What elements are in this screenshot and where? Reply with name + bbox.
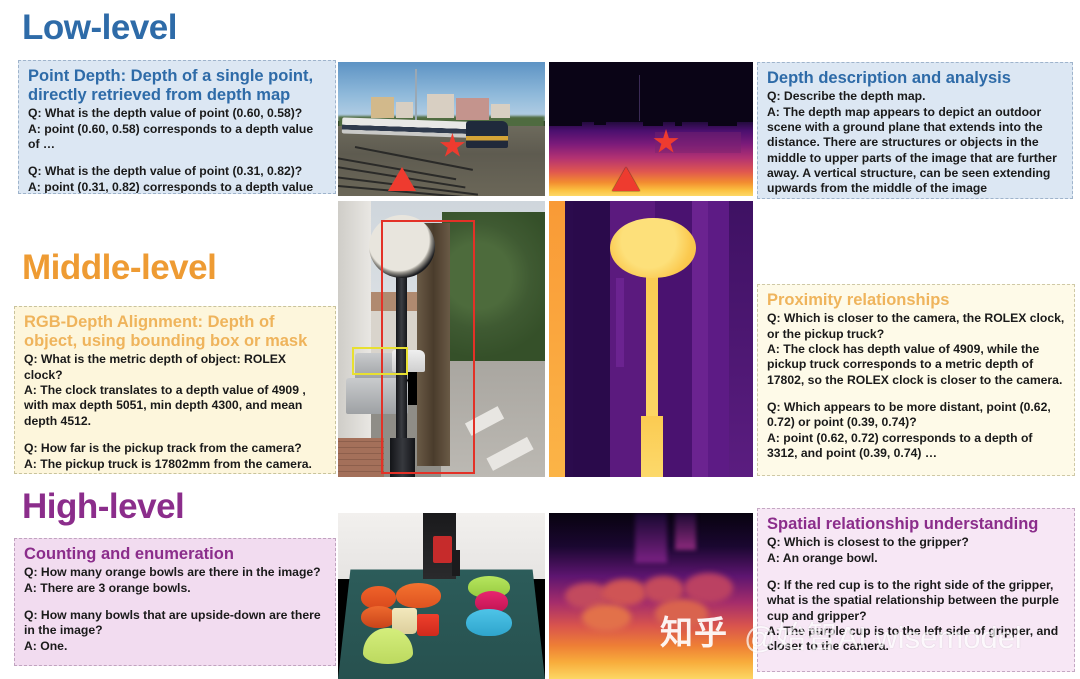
bowl-orange: [361, 606, 396, 628]
image-bowls-depth: [549, 513, 753, 679]
card-counting-title: Counting and enumeration: [24, 545, 327, 564]
card-proximity-title: Proximity relationships: [767, 291, 1066, 310]
card-spatial-q2: Q: If the red cup is to the right side o…: [767, 578, 1066, 624]
card-rgb-depth-alignment-a1: A: The clock translates to a depth value…: [24, 383, 327, 429]
card-proximity-q1: Q: Which is closer to the camera, the RO…: [767, 311, 1066, 342]
card-depth-description-q1: Q: Describe the depth map.: [767, 89, 1064, 104]
card-proximity-a2: A: point (0.62, 0.72) corresponds to a d…: [767, 431, 1066, 462]
slide-canvas: Low-level Middle-level High-level Point …: [0, 0, 1080, 679]
image-train-depth: [549, 62, 753, 196]
card-counting-a1: A: There are 3 orange bowls.: [24, 581, 327, 596]
section-heading-middle-level: Middle-level: [22, 248, 216, 288]
card-point-depth-a1: A: point (0.60, 0.58) corresponds to a d…: [28, 122, 327, 153]
image-clock-rgb: [338, 201, 545, 477]
card-point-depth-a2: A: point (0.31, 0.82) corresponds to a d…: [28, 180, 327, 194]
card-proximity-a1: A: The clock has depth value of 4909, wh…: [767, 342, 1066, 388]
image-bowls-rgb: [338, 513, 545, 679]
cup-red: [417, 614, 440, 636]
card-point-depth-q1: Q: What is the depth value of point (0.6…: [28, 106, 327, 121]
card-counting-q1: Q: How many orange bowls are there in th…: [24, 565, 327, 580]
card-rgb-depth-alignment-q1: Q: What is the metric depth of object: R…: [24, 352, 327, 383]
card-counting-enumeration: Counting and enumeration Q: How many ora…: [14, 538, 336, 666]
card-depth-description-a1: A: The depth map appears to depict an ou…: [767, 105, 1064, 197]
card-spatial-a1: A: An orange bowl.: [767, 551, 1066, 566]
card-rgb-depth-alignment-q2: Q: How far is the pickup track from the …: [24, 441, 327, 456]
card-proximity-q2: Q: Which appears to be more distant, poi…: [767, 400, 1066, 431]
image-clock-depth: [549, 201, 753, 477]
card-proximity-relationships: Proximity relationships Q: Which is clos…: [757, 284, 1075, 476]
bowl-blue: [466, 609, 512, 636]
card-spatial-relationship: Spatial relationship understanding Q: Wh…: [757, 508, 1075, 672]
card-spatial-q1: Q: Which is closest to the gripper?: [767, 535, 1066, 550]
image-train-rgb: [338, 62, 545, 196]
marker-triangle-red: [388, 167, 416, 191]
card-rgb-depth-alignment: RGB-Depth Alignment: Depth of object, us…: [14, 306, 336, 474]
card-point-depth-title: Point Depth: Depth of a single point, di…: [28, 67, 327, 105]
card-counting-a2: A: One.: [24, 639, 327, 654]
card-spatial-title: Spatial relationship understanding: [767, 515, 1066, 534]
card-point-depth: Point Depth: Depth of a single point, di…: [18, 60, 336, 194]
marker-triangle-red: [612, 167, 640, 191]
bowl-orange: [396, 583, 442, 608]
card-rgb-depth-alignment-a2: A: The pickup truck is 17802mm from the …: [24, 457, 327, 472]
card-rgb-depth-alignment-title: RGB-Depth Alignment: Depth of object, us…: [24, 313, 327, 351]
card-depth-description: Depth description and analysis Q: Descri…: [757, 62, 1073, 199]
section-heading-high-level: High-level: [22, 487, 184, 527]
bbox-pickup-truck: [352, 347, 408, 375]
card-spatial-a2: A: The purple cup is to the left side of…: [767, 624, 1066, 655]
card-depth-description-title: Depth description and analysis: [767, 69, 1064, 88]
section-heading-low-level: Low-level: [22, 8, 177, 48]
card-counting-q2: Q: How many bowls that are upside-down a…: [24, 608, 327, 639]
card-point-depth-q2: Q: What is the depth value of point (0.3…: [28, 164, 327, 179]
